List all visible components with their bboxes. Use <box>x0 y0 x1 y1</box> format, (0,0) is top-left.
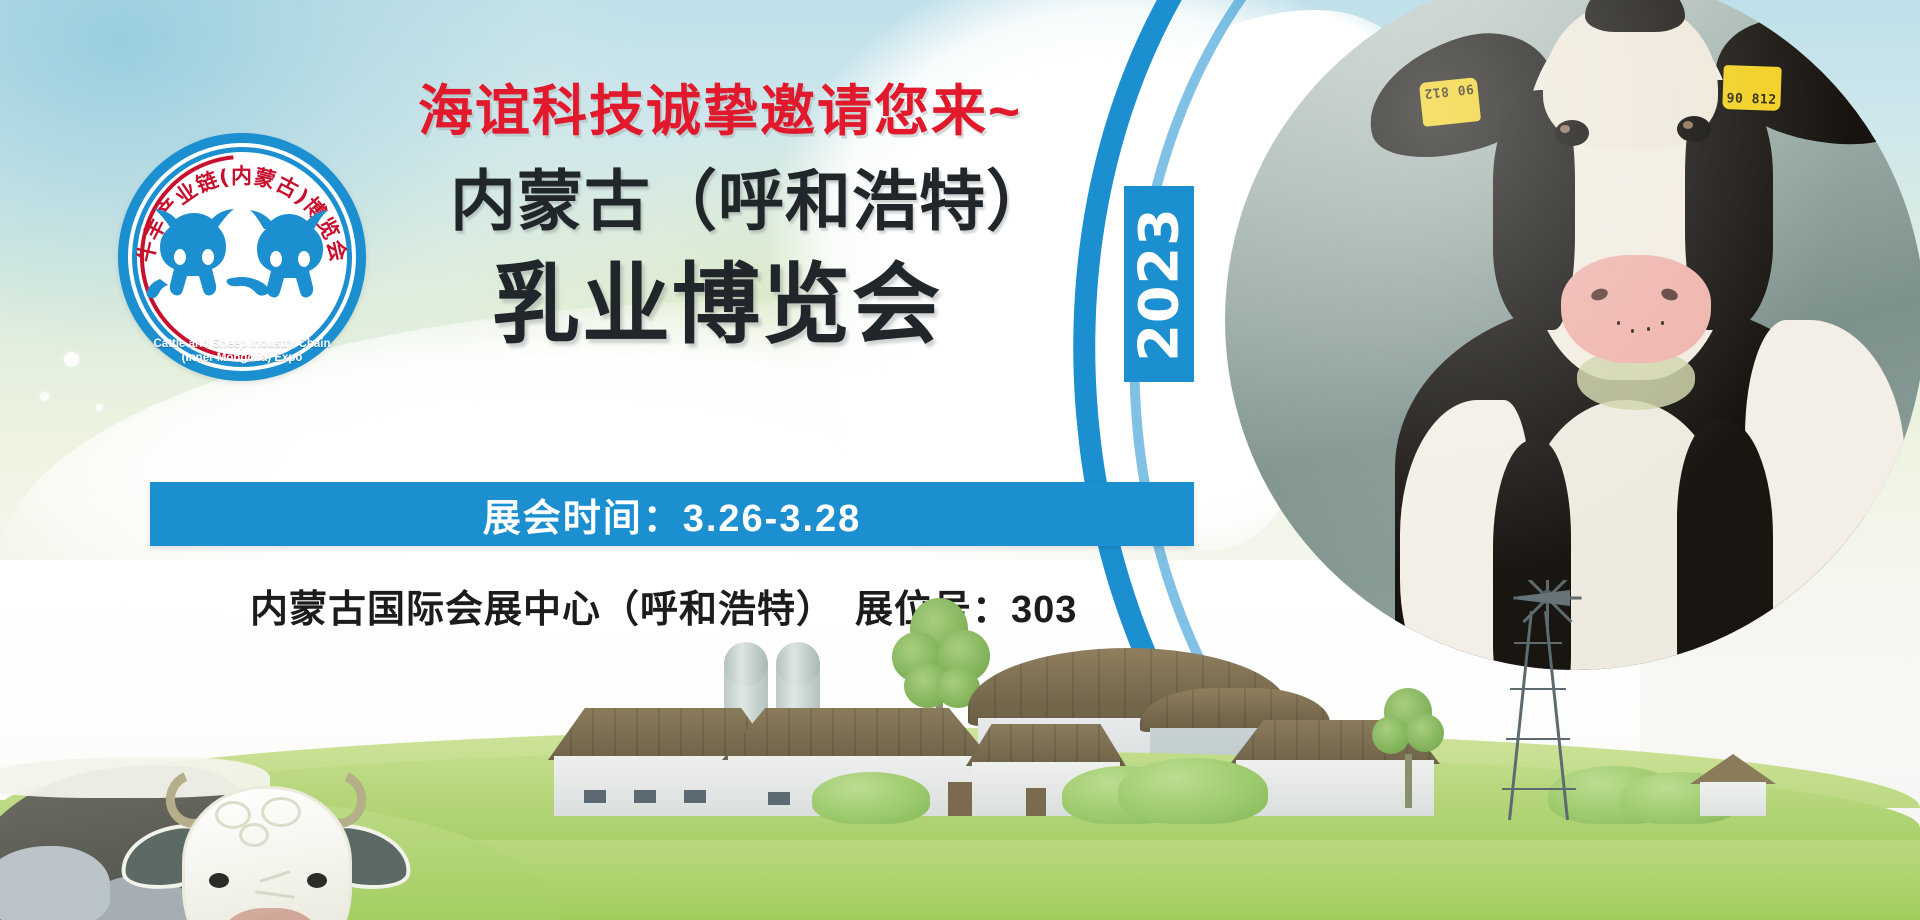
foreground-cow-illustration <box>0 670 440 920</box>
cow-photo-cheek-left <box>1493 90 1575 330</box>
house-wall <box>1700 782 1766 816</box>
cow-photo-nostril-right <box>1660 287 1680 303</box>
cow-photo-forehead <box>1543 0 1718 150</box>
cow-photo-muzzle <box>1561 255 1711 363</box>
milk-droplet <box>40 392 49 401</box>
cow-photo-nostril-left <box>1590 287 1610 303</box>
milk-droplet <box>1002 296 1015 311</box>
farm-bush <box>812 772 930 824</box>
year-badge-label: 2023 <box>1128 207 1191 361</box>
shed-window <box>584 790 606 803</box>
cow-photo-eye-right <box>1677 116 1711 142</box>
windmill-crossbar <box>1506 738 1570 740</box>
fg-cow-face-line <box>259 870 290 883</box>
year-badge: 2023 <box>1124 186 1194 382</box>
tree-foliage <box>1372 716 1410 754</box>
cow-photo-head <box>1525 10 1735 380</box>
farm-house-small <box>1690 754 1776 816</box>
expo-title-line1: 内蒙古（呼和浩特） <box>450 148 1053 244</box>
logo-english-line1: Cattle and Sheep Industry Chain <box>126 337 358 351</box>
farm-tree <box>1370 688 1446 808</box>
shed-window <box>634 790 656 803</box>
windmill-crossbar <box>1510 688 1566 690</box>
logo-english-text: Cattle and Sheep Industry Chain (Inner M… <box>126 337 358 365</box>
cow-photo-chin <box>1577 350 1695 410</box>
tree-foliage <box>1406 714 1444 752</box>
shed-roof <box>966 724 1126 766</box>
logo-english-line2: (Inner Mongolia) Expo <box>126 351 358 365</box>
milk-droplet <box>64 352 79 367</box>
cow-photo-whisker <box>1617 321 1620 325</box>
farm-bush <box>1118 758 1268 824</box>
cow-photo-eye-highlight <box>1683 121 1693 129</box>
dairy-expo-banner: 90 812 90 812 牛羊产业链(内蒙古)博览会 <box>0 0 1920 920</box>
cow-photo-eye-left <box>1555 120 1589 146</box>
cow-photo-ear-left <box>1353 16 1567 176</box>
shed-door <box>1026 788 1046 816</box>
shed-roof <box>722 708 992 760</box>
windmill-head <box>1510 580 1586 636</box>
fg-cow-eye-left <box>209 873 229 888</box>
cow-photo-cheek-right <box>1685 80 1773 330</box>
cow-ear-tag-right: 90 812 <box>1722 65 1782 111</box>
milk-droplet <box>96 404 103 411</box>
cow-photo-whisker <box>1631 329 1634 333</box>
fg-cow-forehead-curl <box>239 823 269 847</box>
cow-photo-poll <box>1585 0 1685 32</box>
holstein-cow-photo: 90 812 90 812 <box>1225 0 1920 670</box>
cow-photo-eye-highlight <box>1560 125 1570 133</box>
house-roof <box>1690 754 1776 784</box>
cow-photo-whisker <box>1647 327 1650 331</box>
shed-window <box>684 790 706 803</box>
expo-title-line2: 乳业博览会 <box>492 234 942 361</box>
event-date-label: 展会时间：3.26-3.28 <box>483 487 862 542</box>
logo-cattle-mascots-icon <box>144 205 340 323</box>
cow-ear-tag-left: 90 812 <box>1419 77 1481 127</box>
farm-windmill <box>1480 580 1600 820</box>
invitation-headline: 海谊科技诚挚邀请您来~ <box>418 66 1022 146</box>
fg-cow-forehead-curl <box>261 797 301 827</box>
shed-window <box>768 792 790 805</box>
event-date-bar: 展会时间：3.26-3.28 <box>150 482 1194 546</box>
expo-logo[interactable]: 牛羊产业链(内蒙古)博览会 Cattle and Sheep Industry … <box>118 133 366 381</box>
fg-cow-head <box>182 786 352 920</box>
cow-photo-ear-right <box>1704 3 1920 163</box>
fg-cow-eye-right <box>307 873 327 888</box>
windmill-crossbar <box>1514 642 1562 644</box>
cow-photo-whisker <box>1661 321 1664 325</box>
tree-trunk <box>1405 754 1412 808</box>
milk-droplet <box>1040 258 1062 284</box>
windmill-crossbar <box>1502 788 1576 790</box>
fg-cow-face-line <box>255 890 295 899</box>
